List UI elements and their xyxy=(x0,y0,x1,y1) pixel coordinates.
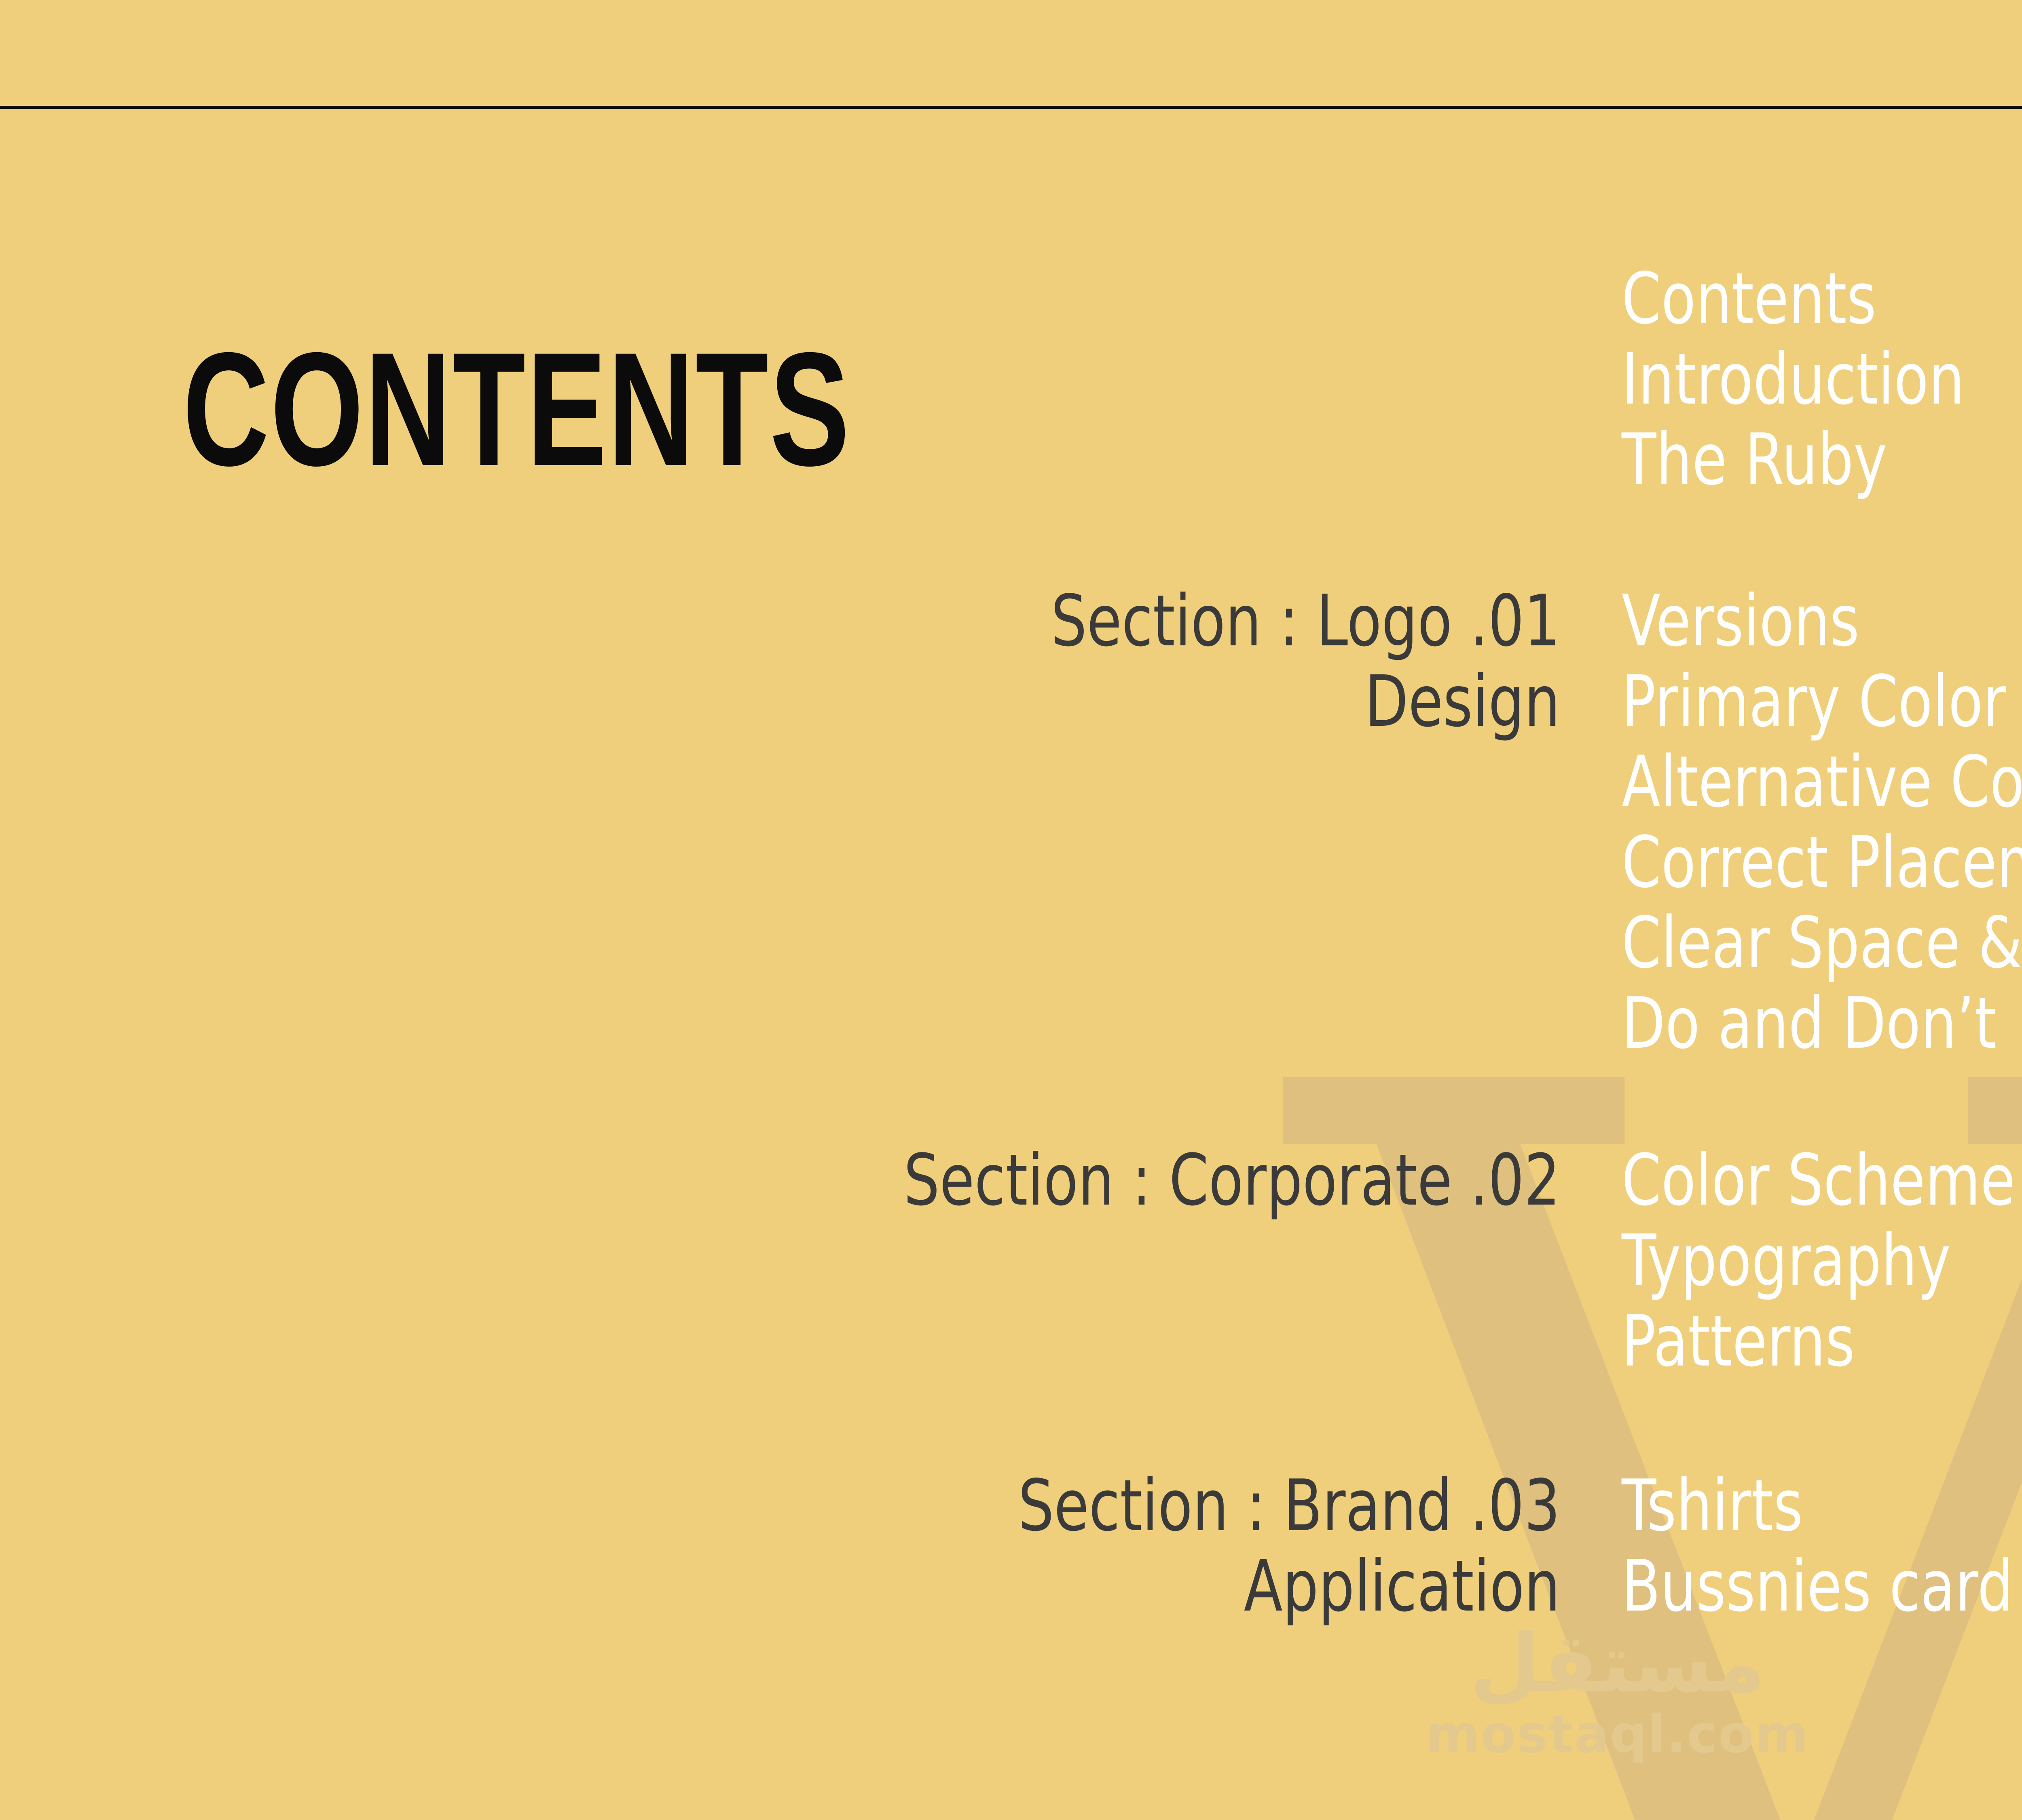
section-items-02: Color Scheme Typography Patterns xyxy=(1622,1140,2022,1382)
list-item[interactable]: Color Scheme xyxy=(1622,1140,2022,1221)
list-item[interactable]: Primary Color System xyxy=(1622,662,2022,742)
section-label-line: Application xyxy=(312,1546,1560,1627)
list-item[interactable]: Alternative Colors xyxy=(1622,742,2022,822)
section-label-line: Section : Corporate .02 xyxy=(312,1140,1560,1221)
list-item[interactable]: The Ruby xyxy=(1622,420,2022,500)
slide-canvas: VU VU CONTENTS Contents Introduction The… xyxy=(0,0,2022,1820)
contents-columns: Contents Introduction The Ruby Section :… xyxy=(0,0,2022,1820)
section-label-01: Section : Logo .01 Design xyxy=(0,581,1560,742)
list-item[interactable]: Tshirts xyxy=(1622,1466,2022,1546)
list-item[interactable]: Clear Space &Minimum Size xyxy=(1622,903,2022,983)
list-item[interactable]: Versions xyxy=(1622,581,2022,662)
list-item[interactable]: Typography xyxy=(1622,1221,2022,1301)
section-label-03: Section : Brand .03 Application xyxy=(0,1466,1560,1627)
list-item[interactable]: Bussnies card xyxy=(1622,1546,2022,1627)
list-item[interactable]: Correct Placement xyxy=(1622,822,2022,903)
list-item[interactable]: Introduction xyxy=(1622,339,2022,420)
section-label-line: Section : Logo .01 xyxy=(312,581,1560,662)
list-item[interactable]: Contents xyxy=(1622,259,2022,339)
section-label-line: Section : Brand .03 xyxy=(312,1466,1560,1546)
section-label-02: Section : Corporate .02 xyxy=(0,1140,1560,1221)
section-items-03: Tshirts Bussnies card xyxy=(1622,1466,2022,1627)
list-item[interactable]: Do and Don’t xyxy=(1622,983,2022,1064)
list-item[interactable]: Patterns xyxy=(1622,1301,2022,1382)
page-title: CONTENTS xyxy=(183,328,851,490)
header-divider xyxy=(0,106,2022,109)
section-items-01: Versions Primary Color System Alternativ… xyxy=(1622,581,2022,1064)
section-label-line: Design xyxy=(312,662,1560,742)
intro-items-group: Contents Introduction The Ruby xyxy=(1622,259,2022,500)
